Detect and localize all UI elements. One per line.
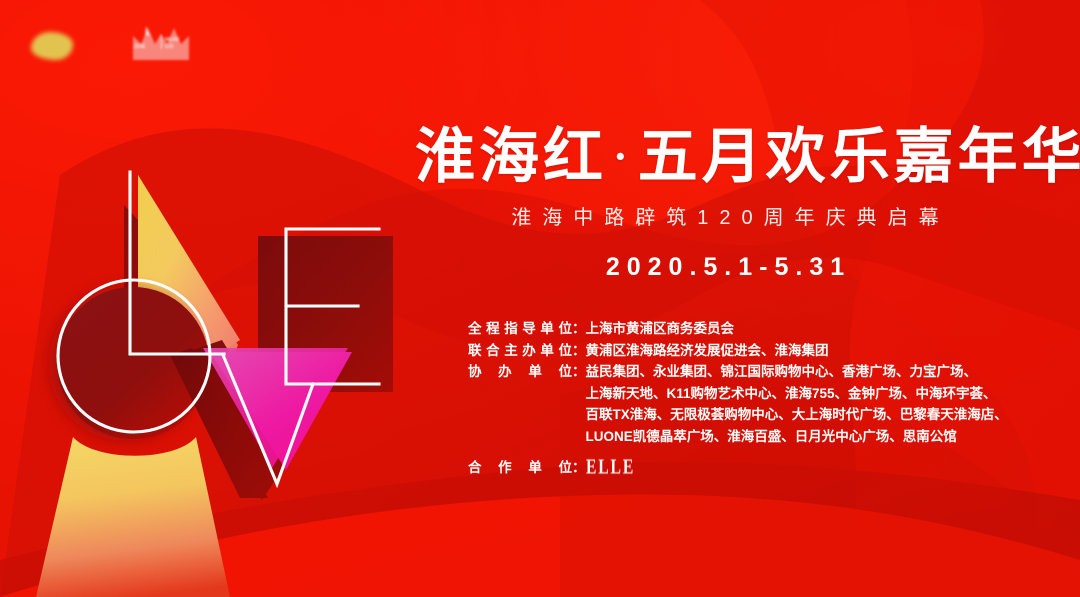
credit-colon: ： xyxy=(572,318,586,340)
credit-row: 全程指导单位 ： 上海市黄浦区商务委员会 xyxy=(468,318,1068,340)
credit-value-line: 百联TX淮海、无限极荟购物中心、大上海时代广场、巴黎春天淮海店、 xyxy=(586,404,1069,426)
cooperation-row: 合作单位 ： ELLE xyxy=(468,457,1068,479)
credit-label: 联合主办单位 xyxy=(468,340,572,362)
credit-value: 上海市黄浦区商务委员会 xyxy=(586,318,1069,340)
logo-text-left: ZHE xyxy=(134,44,146,50)
credit-label: 全程指导单位 xyxy=(468,318,572,340)
poster-canvas: ZHE HUAI CO 淮海红·五月欢乐嘉年华 淮海中路辟筑120周年庆典启幕 … xyxy=(0,0,1080,597)
logo-text-right-top: HUAI xyxy=(165,37,179,43)
logo-text-right-bottom: CO xyxy=(165,44,174,50)
credit-value-line: 益民集团、永业集团、锦江国际购物中心、香港广场、力宝广场、 xyxy=(586,361,1069,383)
credit-colon: ： xyxy=(572,361,586,383)
credits-block: 全程指导单位 ： 上海市黄浦区商务委员会 联合主办单位 ： 黄浦区淮海路经济发展… xyxy=(468,318,1068,479)
credit-value-line: 上海新天地、K11购物艺术中心、淮海755、金钟广场、中海环宇荟、 xyxy=(586,383,1069,405)
credit-row: 联合主办单位 ： 黄浦区淮海路经济发展促进会、淮海集团 xyxy=(468,340,1068,362)
credit-colon: ： xyxy=(572,340,586,362)
logo-crown-icon xyxy=(128,22,194,64)
credit-row: 协办单位 ： 益民集团、永业集团、锦江国际购物中心、香港广场、力宝广场、 上海新… xyxy=(468,361,1068,447)
cooperation-colon: ： xyxy=(572,457,586,479)
huaihai-group-logo: ZHE HUAI CO xyxy=(128,22,194,64)
credit-value: 黄浦区淮海路经济发展促进会、淮海集团 xyxy=(586,340,1069,362)
credit-value-line: LUONE凯德晶萃广场、淮海百盛、日月光中心广场、思南公馆 xyxy=(586,426,1069,448)
elle-logo: ELLE xyxy=(586,456,635,477)
background-artwork xyxy=(0,0,1080,597)
cooperation-value: ELLE xyxy=(586,457,1069,479)
credit-label: 协办单位 xyxy=(468,361,572,383)
cooperation-label: 合作单位 xyxy=(468,457,572,479)
yellow-blob-decor xyxy=(31,32,73,60)
credit-value: 益民集团、永业集团、锦江国际购物中心、香港广场、力宝广场、 上海新天地、K11购… xyxy=(586,361,1069,447)
